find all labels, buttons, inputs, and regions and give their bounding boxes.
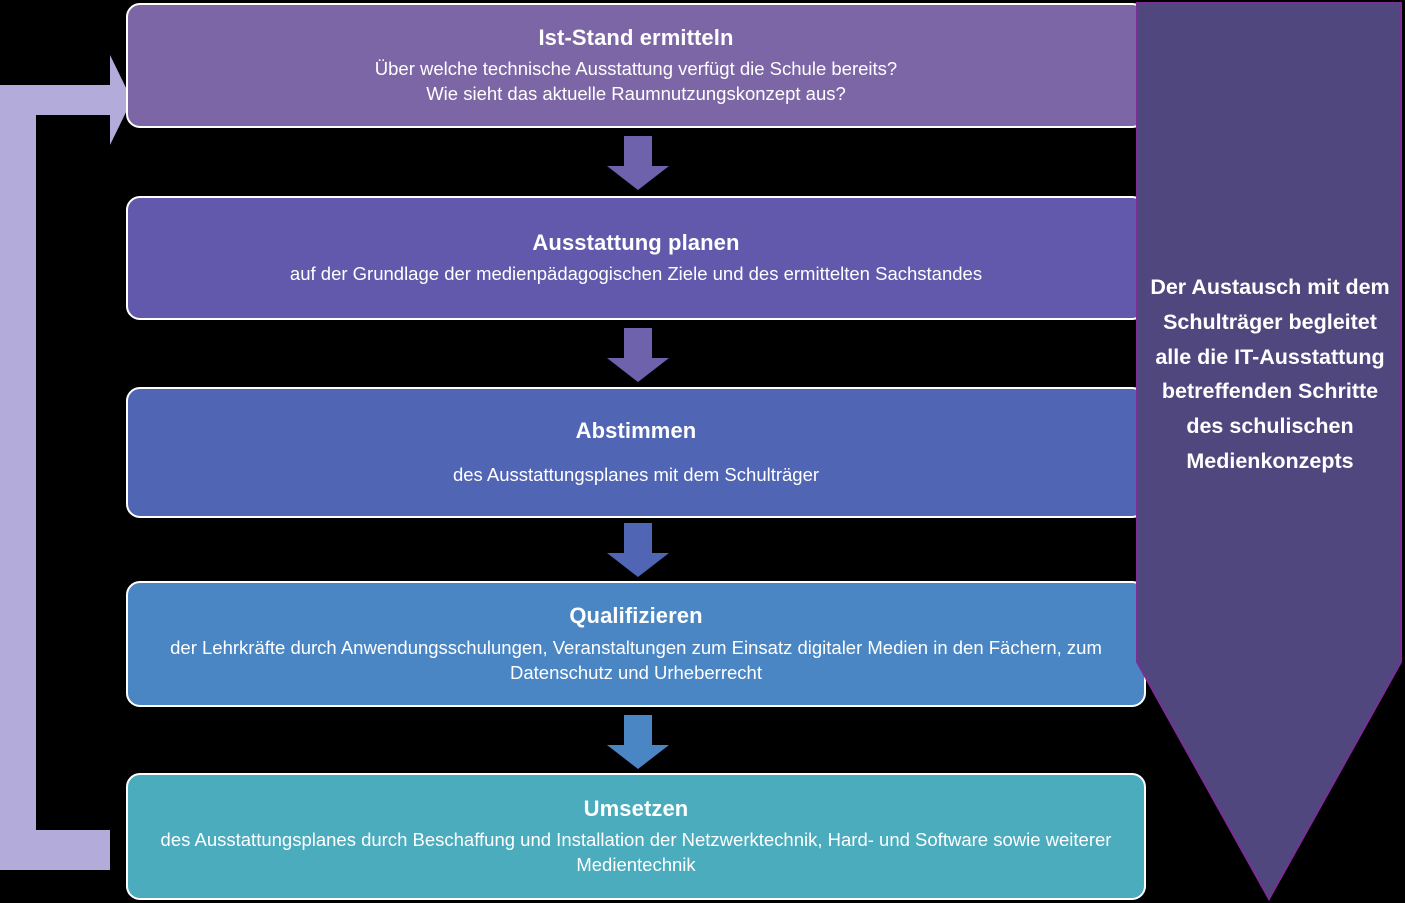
step-box-umsetzen[interactable]: Umsetzen des Ausstattungsplanes durch Be… xyxy=(126,773,1146,900)
connector-arrow-4 xyxy=(607,715,669,769)
step-description: der Lehrkräfte durch Anwendungsschulunge… xyxy=(152,636,1120,686)
arrow-down-icon xyxy=(607,715,669,769)
side-banner-arrow xyxy=(1136,2,1402,901)
arrow-down-icon xyxy=(607,328,669,382)
arrow-down-icon xyxy=(607,523,669,577)
step-title: Ist-Stand ermitteln xyxy=(538,24,733,52)
connector-arrow-1 xyxy=(607,136,669,190)
step-box-ausstattung-planen[interactable]: Ausstattung planen auf der Grundlage der… xyxy=(126,196,1146,320)
step-title: Ausstattung planen xyxy=(532,229,739,257)
step-description: des Ausstattungsplanes durch Beschaffung… xyxy=(152,828,1120,878)
diagram-canvas: Ist-Stand ermitteln Über welche technisc… xyxy=(0,0,1405,903)
feedback-arrow xyxy=(0,40,130,870)
step-title: Umsetzen xyxy=(584,795,689,823)
arrow-down-icon xyxy=(607,136,669,190)
connector-arrow-3 xyxy=(607,523,669,577)
step-description: Über welche technische Ausstattung verfü… xyxy=(375,57,897,107)
step-box-qualifizieren[interactable]: Qualifizieren der Lehrkräfte durch Anwen… xyxy=(126,581,1146,707)
down-arrow-banner-shape xyxy=(1137,3,1401,899)
connector-arrow-2 xyxy=(607,328,669,382)
step-description: des Ausstattungsplanes mit dem Schulträg… xyxy=(453,463,819,488)
step-description-line: Über welche technische Ausstattung verfü… xyxy=(375,57,897,82)
step-box-ist-stand-ermitteln[interactable]: Ist-Stand ermitteln Über welche technisc… xyxy=(126,3,1146,128)
step-title: Qualifizieren xyxy=(569,602,702,630)
step-description-line: Wie sieht das aktuelle Raumnutzungskonze… xyxy=(375,82,897,107)
step-description: auf der Grundlage der medienpädagogische… xyxy=(290,262,982,287)
bent-arrow-right-icon xyxy=(0,55,130,870)
step-box-abstimmen[interactable]: Abstimmen des Ausstattungsplanes mit dem… xyxy=(126,387,1146,518)
step-title: Abstimmen xyxy=(576,417,697,445)
